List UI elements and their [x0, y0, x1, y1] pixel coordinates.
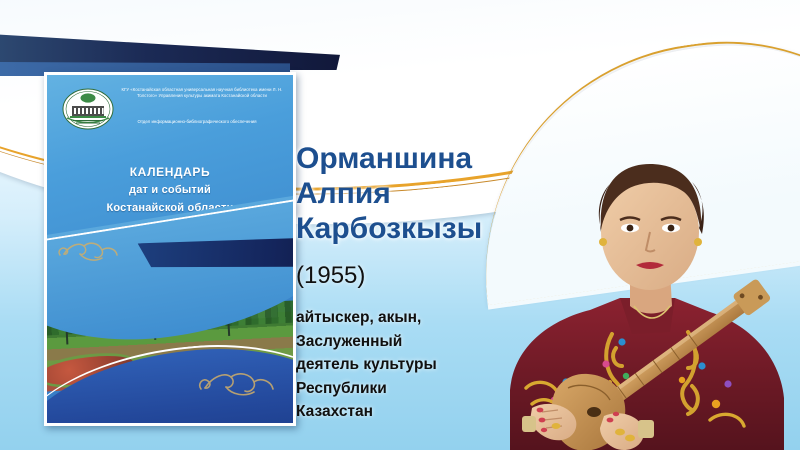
library-emblem-icon [61, 87, 115, 131]
cover-department-text: Отдел информационно-библиографического о… [107, 119, 287, 124]
kazakh-ornament-cover-bottom-right-icon [197, 371, 275, 399]
cover-organization-text: КГУ «Костанайская областная универсальна… [119, 87, 285, 98]
kazakh-ornament-cover-top-left-icon [57, 241, 119, 263]
person-description-line-2: Заслуженный [296, 330, 486, 354]
person-description-block: айтыскер, акын, Заслуженный деятель куль… [296, 306, 486, 424]
cover-title-line-2: дат и событий [47, 182, 293, 200]
person-portrait-photo [470, 120, 800, 450]
person-description-line-3: деятель культуры [296, 353, 486, 377]
book-cover-inner: КГУ «Костанайская областная универсальна… [47, 75, 293, 423]
person-birth-year: (1955) [296, 262, 365, 290]
cover-title-line-1: КАЛЕНДАРЬ [47, 163, 293, 182]
slide-canvas: КГУ «Костанайская областная универсальна… [0, 0, 800, 450]
person-description-line-4: Республики [296, 377, 486, 401]
person-description-line-1: айтыскер, акын, [296, 306, 486, 330]
calendar-book-cover[interactable]: КГУ «Костанайская областная универсальна… [44, 72, 296, 426]
person-description-line-5: Казахстан [296, 400, 486, 424]
